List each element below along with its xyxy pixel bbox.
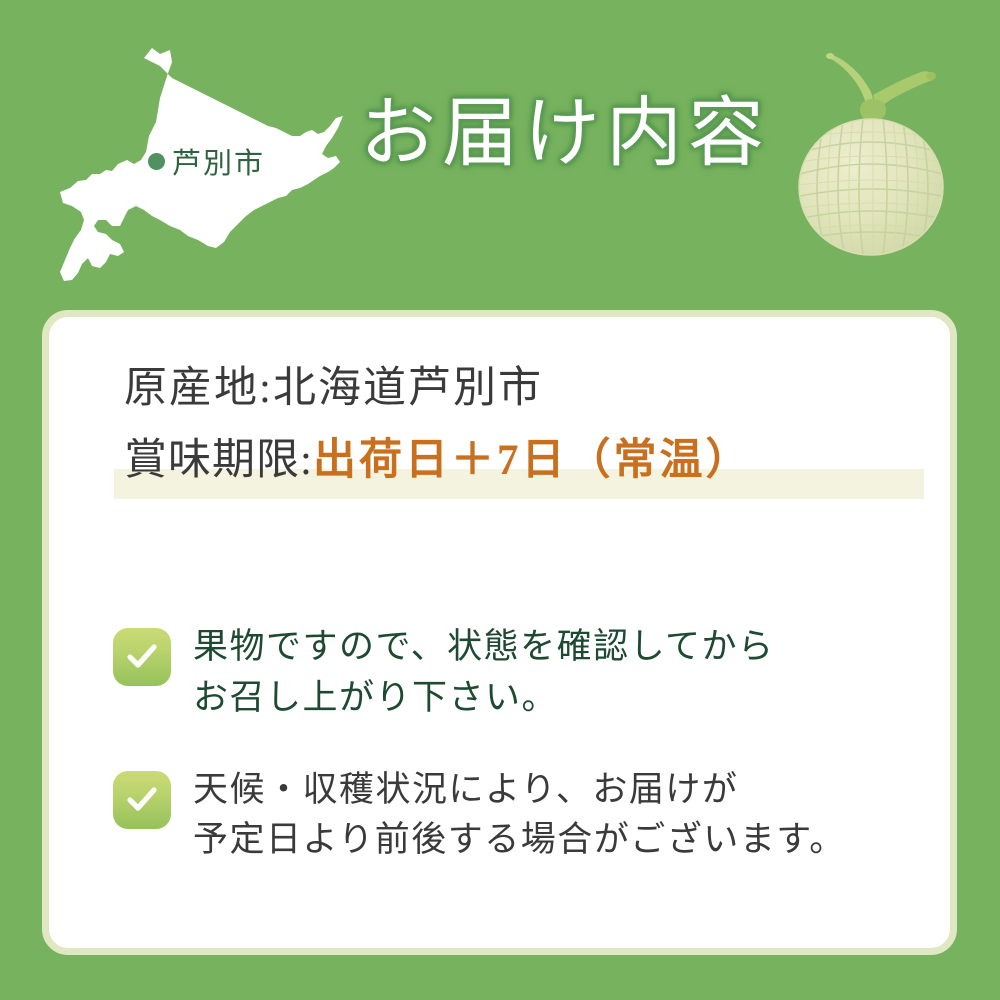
note-text: 果物ですので、状態を確認してから お召し上がり下さい。 (193, 622, 775, 724)
list-item: 果物ですので、状態を確認してから お召し上がり下さい。 (113, 622, 943, 724)
product-info-block: 原産地:北海道芦別市 賞味期限:出荷日＋7日（常温） (124, 367, 944, 482)
checkmark-icon (113, 771, 171, 829)
expiry-value: 出荷日＋7日（常温） (313, 437, 752, 484)
checkmark-icon (113, 628, 171, 686)
note-text: 天候・収穫状況により、お届けが 予定日より前後する場合がございます。 (193, 765, 846, 867)
melon-fruit-image (793, 42, 953, 257)
origin-line: 原産地:北海道芦別市 (124, 367, 944, 410)
location-dot-icon (148, 153, 165, 170)
map-city-name: 芦別市 (172, 140, 265, 182)
page-title: お届け内容 (360, 96, 770, 172)
delivery-info-card: 原産地:北海道芦別市 賞味期限:出荷日＋7日（常温） 果物ですので、状態を確認し… (42, 310, 957, 955)
expiry-label: 賞味期限: (124, 437, 313, 484)
header-banner: 芦別市 お届け内容 (0, 0, 1000, 300)
notes-list: 果物ですので、状態を確認してから お召し上がり下さい。 天候・収穫状況により、お… (113, 622, 943, 866)
list-item: 天候・収穫状況により、お届けが 予定日より前後する場合がございます。 (113, 765, 943, 867)
expiry-line: 賞味期限:出荷日＋7日（常温） (124, 439, 944, 482)
delivery-info-card-page: 芦別市 お届け内容 (0, 0, 1000, 1000)
map-city-label: 芦別市 (148, 140, 265, 182)
